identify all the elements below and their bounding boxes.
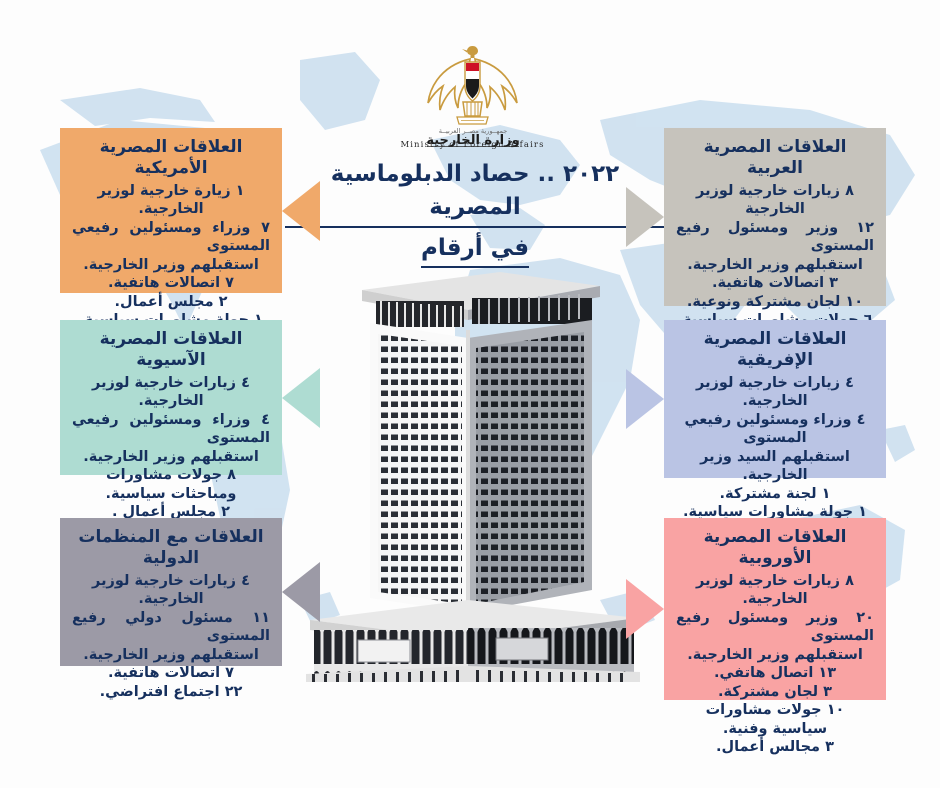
panel-egyptian-european-relations[interactable]: العلاقات المصرية الأوروبية ٨ زيارات خارج…	[664, 518, 886, 700]
panel-line: ٢٠ وزير ومسئول رفيع المستوى	[676, 609, 874, 646]
page-title: ٢٠٢٢ .. حصاد الدبلوماسية المصرية في أرقا…	[285, 158, 665, 268]
panel-arrow-icon	[626, 187, 664, 247]
infographic-canvas: جمهــورية مصــر العربيــة وزارة الخارجية…	[0, 0, 940, 788]
panel-line: ١٠ جولات مشاورات سياسية وفنية.	[676, 701, 874, 738]
panel-title-europe: العلاقات المصرية الأوروبية	[676, 527, 874, 570]
ministry-of-foreign-affairs-tower	[300, 268, 640, 688]
panel-line: استقبلهم وزير الخارجية.	[676, 646, 874, 665]
panel-egyptian-asian-relations[interactable]: العلاقات المصرية الآسيوية ٤ زيارات خارجي…	[60, 320, 282, 475]
panel-line: ١١ مسئول دولي رفيع المستوى	[72, 609, 270, 646]
panel-line: ٤ زيارات خارجية لوزير الخارجية.	[72, 374, 270, 411]
logo-ministry-english: Ministry of Foreign Affairs	[385, 140, 560, 150]
panel-line: ٤ وزراء ومسئولين رفيعي المستوى	[72, 411, 270, 448]
panel-line: ١ لجنة مشتركة.	[676, 485, 874, 504]
panel-arrow-icon	[282, 368, 320, 428]
panel-line: ٣ مجالس أعمال.	[676, 738, 874, 757]
panel-line: ١ زيارة خارجية لوزير الخارجية.	[72, 182, 270, 219]
panel-line: ٢٢ اجتماع افتراضي.	[72, 683, 270, 702]
panel-line: ٧ وزراء ومسئولين رفيعي المستوى	[72, 219, 270, 256]
panel-title-arab: العلاقات المصرية العربية	[676, 137, 874, 180]
panel-line: ٨ زيارات خارجية لوزير الخارجية	[676, 182, 874, 219]
panel-line: ٨ جولات مشاورات ومباحثات سياسية.	[72, 466, 270, 503]
panel-line: ٣ اتصالات هاتفية.	[676, 274, 874, 293]
panel-arrow-icon	[282, 562, 320, 622]
panel-line: ٤ زيارات خارجية لوزير الخارجية.	[72, 572, 270, 609]
panel-line: ٣ لجان مشتركة.	[676, 683, 874, 702]
panel-line: ٢ مجلس أعمال.	[72, 293, 270, 312]
panel-egyptian-american-relations[interactable]: العلاقات المصرية الأمريكية ١ زيارة خارجي…	[60, 128, 282, 293]
panel-line: استقبلهم وزير الخارجية.	[72, 256, 270, 275]
panel-line: ٧ اتصالات هاتفية.	[72, 274, 270, 293]
tower-left-face	[370, 323, 468, 613]
panel-arrow-icon	[626, 579, 664, 639]
panel-egyptian-african-relations[interactable]: العلاقات المصرية الإفريقية ٤ زيارات خارج…	[664, 320, 886, 478]
panel-line: ١٣ اتصال هاتفي.	[676, 664, 874, 683]
panel-line: استقبلهم وزير الخارجية.	[676, 256, 874, 275]
panel-egyptian-arab-relations[interactable]: العلاقات المصرية العربية ٨ زيارات خارجية…	[664, 128, 886, 306]
tower-podium	[306, 600, 640, 682]
panel-arrow-icon	[626, 369, 664, 429]
tower-corner-edge	[466, 330, 470, 616]
panel-title-international: العلاقات مع المنظمات الدولية	[72, 527, 270, 570]
tower-roof	[362, 272, 600, 327]
panel-line: ١٢ وزير ومسئول رفيع المستوى	[676, 219, 874, 256]
panel-line: استقبلهم وزير الخارجية.	[72, 448, 270, 467]
panel-line: ٨ زيارات خارجية لوزير الخارجية.	[676, 572, 874, 609]
panel-line: ١٠ لجان مشتركة ونوعية.	[676, 293, 874, 312]
panel-line: استقبلهم وزير الخارجية.	[72, 646, 270, 665]
panel-line: ٤ وزراء ومسئولين رفيعي المستوى	[676, 411, 874, 448]
panel-line: ٧ اتصالات هاتفية.	[72, 664, 270, 683]
panel-line: استقبلهم السيد وزير الخارجية.	[676, 448, 874, 485]
panel-title-africa: العلاقات المصرية الإفريقية	[676, 329, 874, 372]
panel-line: ٤ زيارات خارجية لوزير الخارجية.	[676, 374, 874, 411]
page-title-line1: ٢٠٢٢ .. حصاد الدبلوماسية المصرية	[285, 158, 665, 228]
panel-title-america: العلاقات المصرية الأمريكية	[72, 137, 270, 180]
panel-arrow-icon	[282, 181, 320, 241]
ministry-logo: جمهــورية مصــر العربيــة وزارة الخارجية	[385, 38, 560, 150]
egyptian-eagle-emblem-icon	[428, 46, 517, 124]
panel-title-asia: العلاقات المصرية الآسيوية	[72, 329, 270, 372]
page-title-line2: في أرقام	[421, 232, 529, 268]
tower-right-face	[468, 320, 592, 613]
panel-international-organizations-relations[interactable]: العلاقات مع المنظمات الدولية ٤ زيارات خا…	[60, 518, 282, 666]
